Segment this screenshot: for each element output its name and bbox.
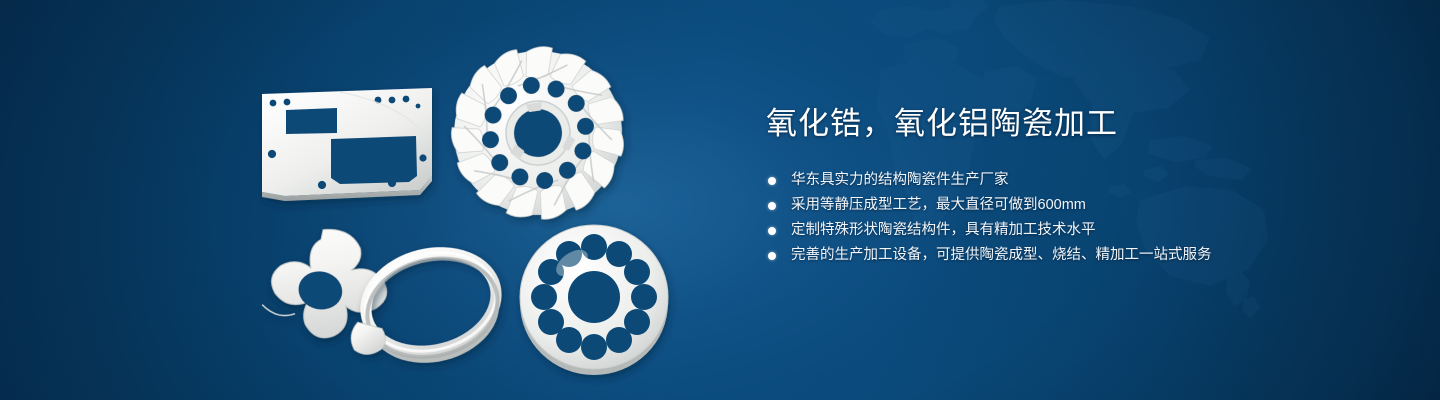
page-title: 氧化锆，氧化铝陶瓷加工 — [766, 104, 1386, 144]
list-item: 华东具实力的结构陶瓷件生产厂家 — [766, 168, 1386, 193]
list-item-label: 定制特殊形状陶瓷结构件，具有精加工技术水平 — [791, 222, 1096, 238]
list-item: 完善的生产加工设备，可提供陶瓷成型、烧结、精加工一站式服务 — [766, 243, 1386, 268]
feature-list: 华东具实力的结构陶瓷件生产厂家 采用等静压成型工艺，最大直径可做到600mm 定… — [766, 168, 1386, 268]
product-images — [0, 0, 760, 400]
ceramic-perforated-disc — [520, 225, 668, 375]
list-item-label: 完善的生产加工设备，可提供陶瓷成型、烧结、精加工一站式服务 — [791, 247, 1212, 263]
hero-banner: 氧化锆，氧化铝陶瓷加工 华东具实力的结构陶瓷件生产厂家 采用等静压成型工艺，最大… — [0, 0, 1440, 400]
ceramic-ring — [335, 239, 509, 381]
ceramic-impeller — [439, 33, 638, 233]
bullet-dot-icon — [768, 202, 776, 210]
bullet-dot-icon — [768, 252, 776, 260]
ceramic-plate — [262, 88, 432, 201]
bullet-dot-icon — [768, 227, 776, 235]
list-item-label: 采用等静压成型工艺，最大直径可做到600mm — [791, 197, 1086, 213]
list-item: 定制特殊形状陶瓷结构件，具有精加工技术水平 — [766, 218, 1386, 243]
list-item-label: 华东具实力的结构陶瓷件生产厂家 — [791, 172, 1009, 188]
list-item: 采用等静压成型工艺，最大直径可做到600mm — [766, 193, 1386, 218]
copy-block: 氧化锆，氧化铝陶瓷加工 华东具实力的结构陶瓷件生产厂家 采用等静压成型工艺，最大… — [766, 104, 1386, 268]
bullet-dot-icon — [768, 177, 776, 185]
